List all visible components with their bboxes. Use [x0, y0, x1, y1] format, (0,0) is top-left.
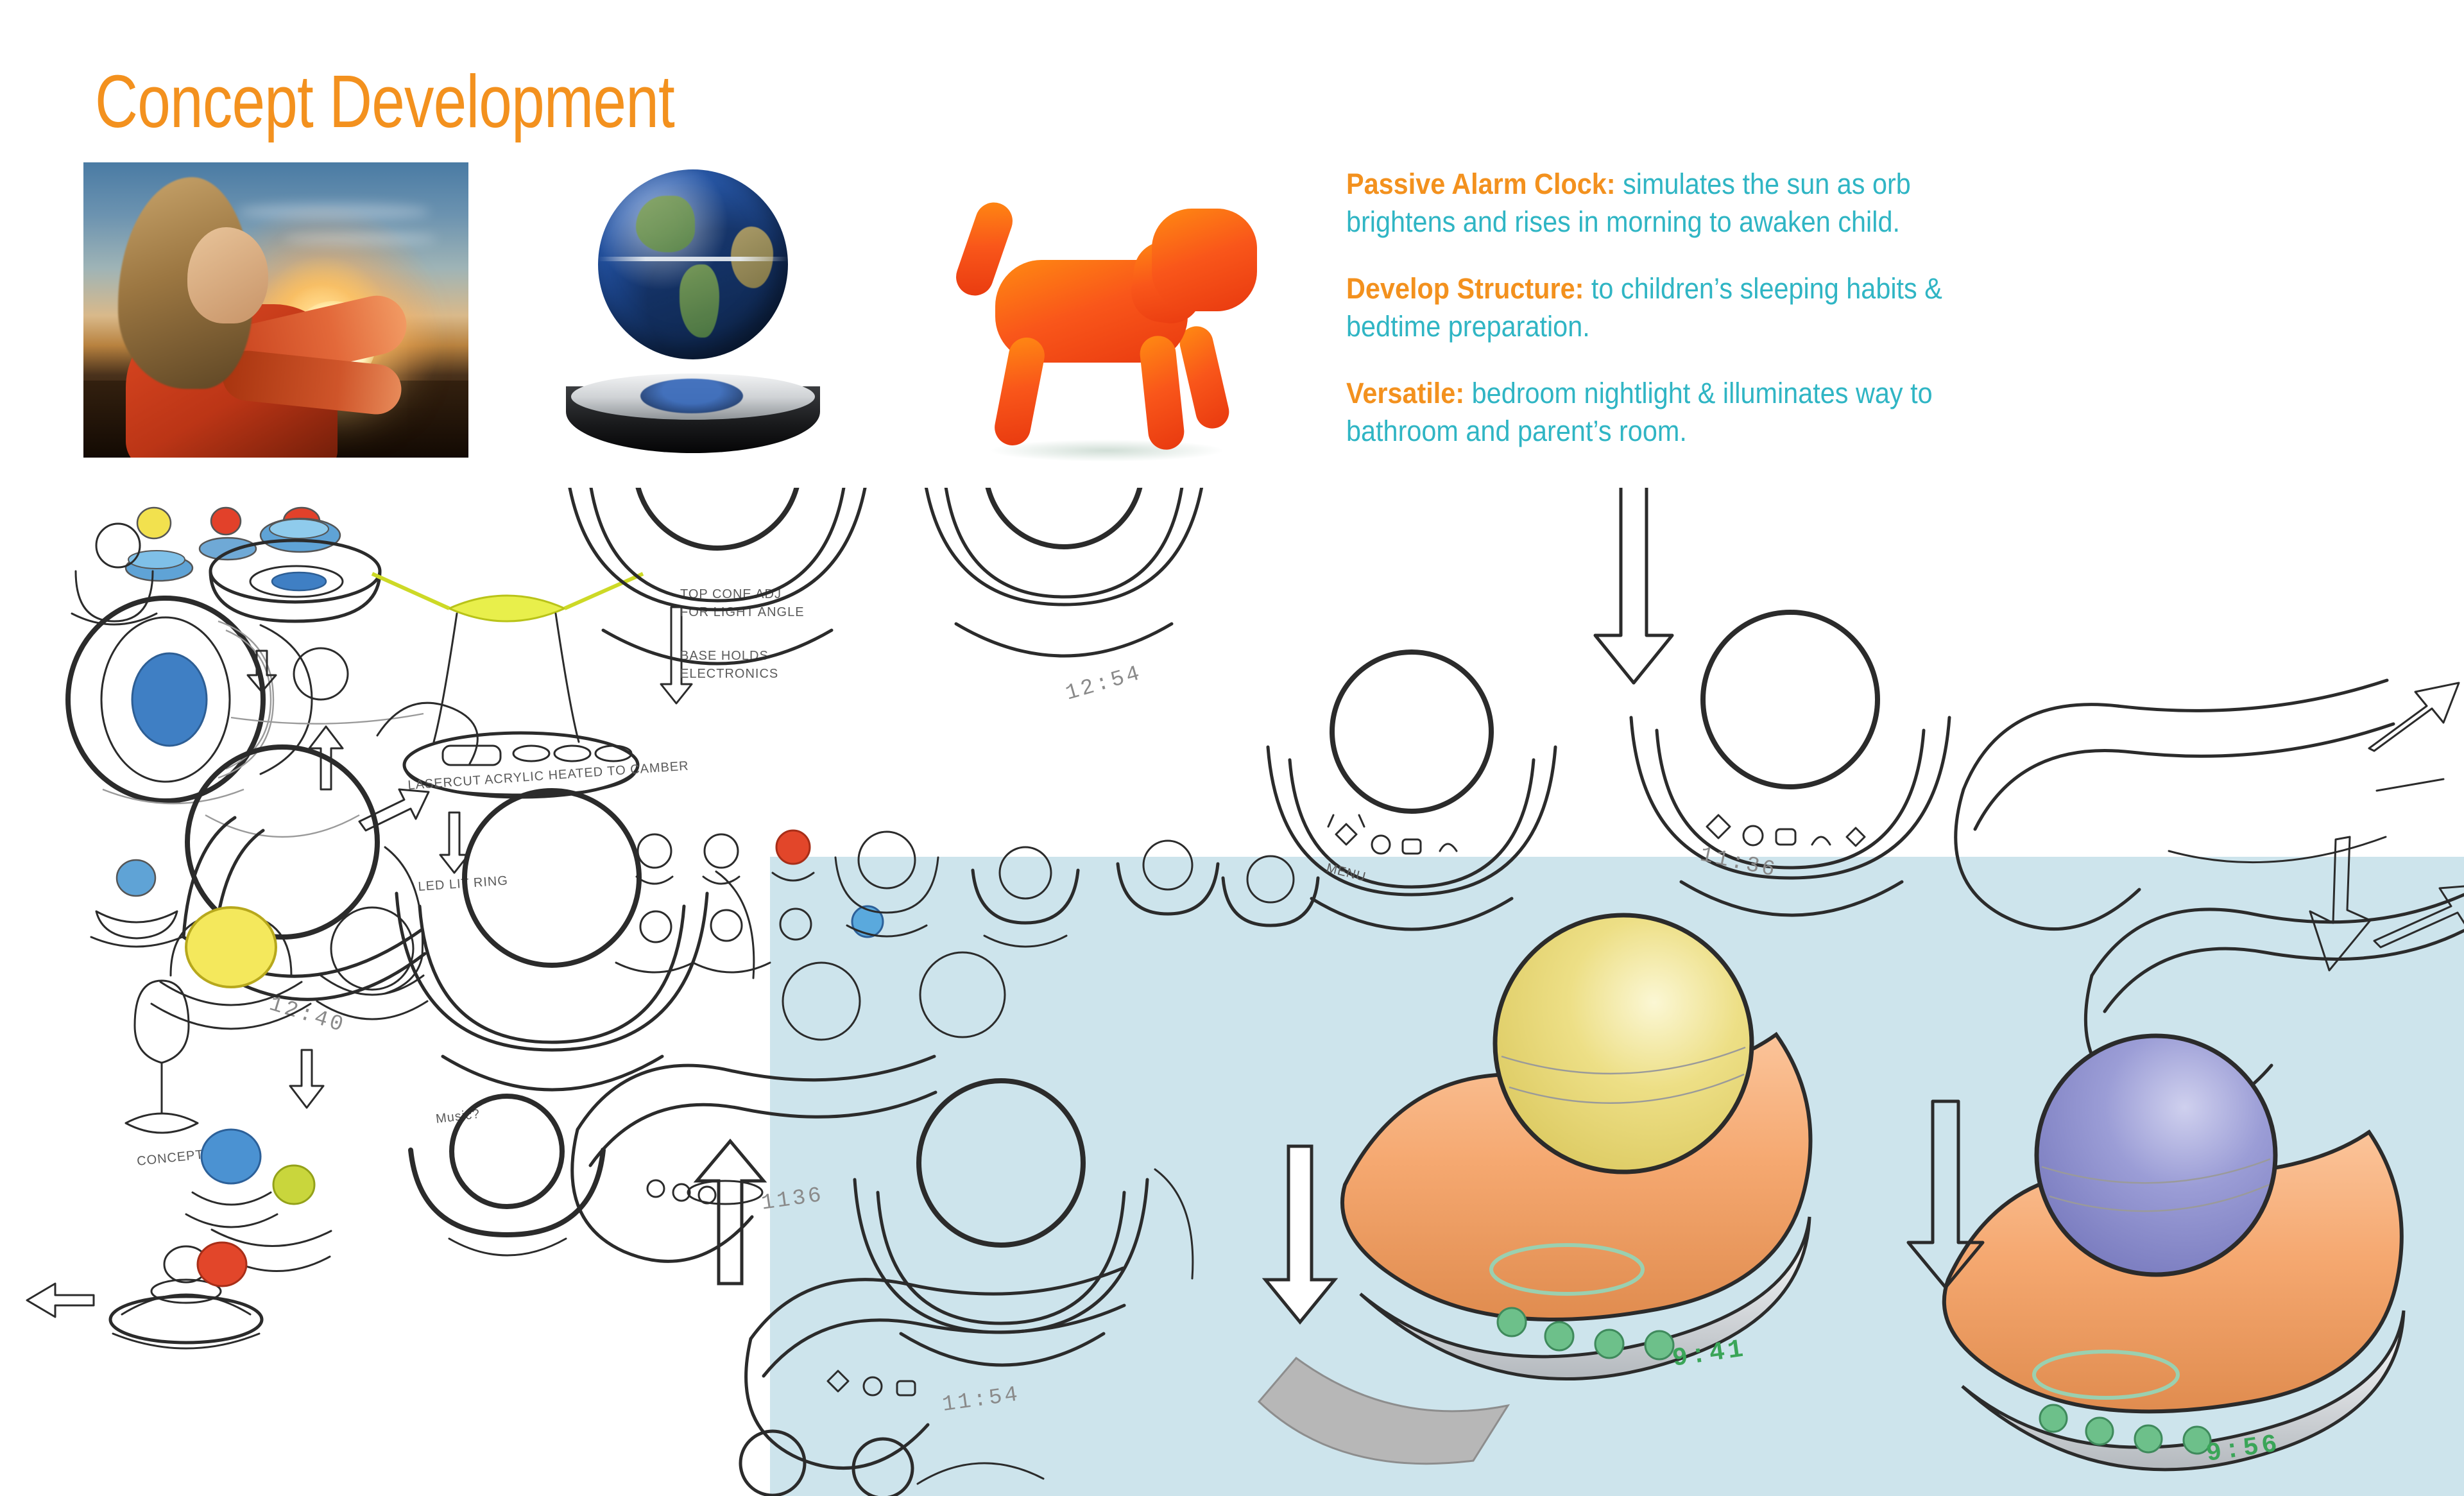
callout-list: Passive Alarm Clock: simulates the sun a…: [1346, 166, 2026, 479]
callout-versatile: Versatile: bedroom nightlight & illumina…: [1346, 375, 1972, 450]
callout-develop-structure: Develop Structure: to children’s sleepin…: [1346, 270, 1972, 345]
interface-icon-row-2: [1707, 815, 1865, 846]
cradle-sketch-icons-a: MENU: [1268, 652, 1555, 929]
interface-icon-row: MENU: [1325, 815, 1457, 884]
svg-text:ELECTRONICS: ELECTRONICS: [680, 667, 778, 681]
continent-north-america: [636, 196, 695, 252]
note-lasercut: LASERCUT ACRYLIC HEATED TO CAMBER: [407, 759, 690, 793]
cradle-sketch-icons-b: 11:36: [1631, 612, 1949, 915]
cradle-sketch-lower-left: 1136: [572, 1056, 936, 1261]
cradle-sketch-rocker-a: [561, 488, 873, 664]
sketch-clock-1254-value: 12:54: [1063, 661, 1145, 706]
sun-orb: [1495, 915, 1752, 1172]
sun-cradle-shadow: [1259, 1358, 1508, 1464]
cradle-sketch-right: [1956, 680, 2459, 929]
cradle-sketch-mid: [397, 791, 754, 1090]
levitating-globe-photo: [565, 160, 873, 462]
sketch-board: CONCEPTUAL: [0, 488, 2464, 1496]
callout-passive-alarm-clock: Passive Alarm Clock: simulates the sun a…: [1346, 166, 1972, 241]
render-night-concept: 9:56: [1944, 1036, 2404, 1470]
pictogram-row: [616, 830, 883, 972]
rise-arrow-center: [1265, 1146, 1335, 1322]
render-clock-956-value: 9:56: [2205, 1430, 2282, 1469]
puppy-chair-photo: [940, 164, 1274, 465]
rise-arrow-upper: [1595, 488, 1672, 683]
child-holding-sun-photo: [83, 162, 468, 458]
callout-heading: Passive Alarm Clock:: [1346, 168, 1616, 200]
girl-face: [187, 227, 268, 323]
page-title: Concept Development: [95, 64, 674, 139]
puppy-leg-front-right: [1138, 334, 1186, 452]
cradle-sketch-rocker-b: 12:54: [921, 488, 1206, 707]
continent-south-america: [680, 264, 719, 338]
render-sun-concept: 9:41: [1259, 915, 1810, 1464]
globe-equator-ring: [598, 257, 788, 261]
globe-sphere: [598, 169, 788, 359]
cradle-sketch-lower-icons: 11:54: [746, 1268, 1124, 1468]
cradle-thumb: [918, 1463, 1043, 1484]
callout-heading: Develop Structure:: [1346, 272, 1584, 305]
puppy-shadow: [991, 440, 1222, 461]
globe-base-reflection: [640, 379, 743, 413]
night-orb: [2037, 1036, 2275, 1275]
puppy-leg-back-right: [1176, 323, 1232, 432]
svg-text:1136: 1136: [760, 1183, 825, 1216]
callout-heading: Versatile:: [1346, 377, 1464, 409]
rise-arrow-left: [697, 1141, 764, 1284]
puppy-head: [1152, 209, 1257, 311]
sketch-clock-1154-value: 11:54: [941, 1382, 1022, 1418]
sketch-layer: CONCEPTUAL: [0, 488, 2464, 1496]
puppy-leg-front-left: [991, 334, 1047, 449]
sketch-clock-1136-value: 11:36: [1698, 843, 1779, 884]
